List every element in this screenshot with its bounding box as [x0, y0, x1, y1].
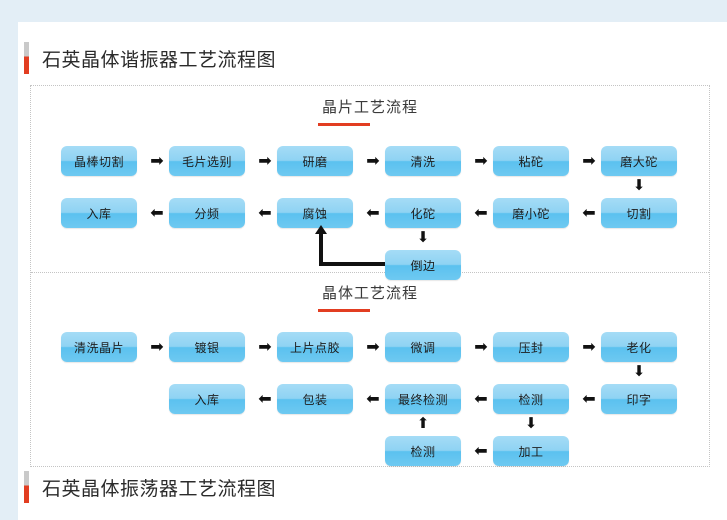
node-s2r1-c2[interactable]: 镀银: [169, 332, 245, 362]
section-2-heading-label: 晶体工艺流程: [31, 282, 709, 309]
arrow-left-s1r2-3: ⬅: [362, 206, 384, 222]
arrow-right-s1r1-3: ➡: [362, 154, 384, 170]
section-2-heading: 晶体工艺流程: [31, 282, 709, 309]
arrow-left-s1r2-2: ⬅: [254, 206, 276, 222]
arrow-left-s1r2-4: ⬅: [470, 206, 492, 222]
arrow-right-s2r1-4: ➡: [470, 340, 492, 356]
arrow-up-s2-col4: ⬆: [416, 416, 430, 431]
arrow-left-s2r2-1: ⬅: [254, 392, 276, 408]
node-s1r2-c1[interactable]: 入库: [61, 198, 137, 228]
title-accent-bar-bottom: [24, 471, 29, 503]
node-s2r3-c5[interactable]: 加工: [493, 436, 569, 466]
section-2-heading-rule-accent: [318, 309, 370, 312]
arrow-right-s2r1-1: ➡: [146, 340, 168, 356]
arrow-left-s1r2-1: ⬅: [146, 206, 168, 222]
node-s2r1-c5[interactable]: 压封: [493, 332, 569, 362]
node-s1r1-c2[interactable]: 毛片选别: [169, 146, 245, 176]
arrow-right-s2r1-5: ➡: [578, 340, 600, 356]
arrow-left-s1r2-5: ⬅: [578, 206, 600, 222]
arrow-down-s1-col6: ⬇: [632, 178, 646, 193]
arrow-right-s2r1-2: ➡: [254, 340, 276, 356]
arrow-down-s1-col4: ⬇: [416, 230, 430, 245]
arrow-left-s2r3-1: ⬅: [470, 444, 492, 460]
arrow-right-s1r1-1: ➡: [146, 154, 168, 170]
elbow-horizontal-segment: [319, 262, 385, 266]
section-1-heading-label: 晶片工艺流程: [31, 96, 709, 123]
arrow-right-s1r1-2: ➡: [254, 154, 276, 170]
node-s1r2-c5[interactable]: 磨小砣: [493, 198, 569, 228]
node-s1r1-c6[interactable]: 磨大砣: [601, 146, 677, 176]
panel-divider: [31, 272, 709, 273]
section-1-heading-rule-accent: [318, 123, 370, 126]
arrow-down-s2-col6: ⬇: [632, 364, 646, 379]
elbow-arrow-head: [315, 225, 327, 234]
arrow-right-s2r1-3: ➡: [362, 340, 384, 356]
node-s2r2-c6[interactable]: 印字: [601, 384, 677, 414]
node-s1r1-c1[interactable]: 晶棒切割: [61, 146, 137, 176]
node-s2r2-c2[interactable]: 入库: [169, 384, 245, 414]
node-s2r2-c5[interactable]: 检测: [493, 384, 569, 414]
node-s1r2-c4[interactable]: 化砣: [385, 198, 461, 228]
node-s2r2-c4[interactable]: 最终检测: [385, 384, 461, 414]
node-s2r3-c4[interactable]: 检测: [385, 436, 461, 466]
page-title-bottom: 石英晶体振荡器工艺流程图: [24, 470, 276, 504]
arrow-left-s2r2-4: ⬅: [578, 392, 600, 408]
node-s1r1-c3[interactable]: 研磨: [277, 146, 353, 176]
arrow-down-s2-col5: ⬇: [524, 416, 538, 431]
page-title-top: 石英晶体谐振器工艺流程图: [24, 41, 276, 75]
node-s1r2-c6[interactable]: 切割: [601, 198, 677, 228]
node-s1r1-c4[interactable]: 清洗: [385, 146, 461, 176]
elbow-vertical-segment: [319, 232, 323, 266]
node-s2r1-c6[interactable]: 老化: [601, 332, 677, 362]
node-s1r1-c5[interactable]: 粘砣: [493, 146, 569, 176]
node-s2r1-c3[interactable]: 上片点胶: [277, 332, 353, 362]
arrow-right-s1r1-4: ➡: [470, 154, 492, 170]
node-s1r3-c4[interactable]: 倒边: [385, 250, 461, 280]
section-1-heading: 晶片工艺流程: [31, 96, 709, 123]
arrow-right-s1r1-5: ➡: [578, 154, 600, 170]
page-title-top-label: 石英晶体谐振器工艺流程图: [42, 45, 276, 72]
page-title-bottom-label: 石英晶体振荡器工艺流程图: [42, 474, 276, 501]
flow-panel: 晶片工艺流程 晶棒切割 ➡ 毛片选别 ➡ 研磨 ➡ 清洗 ➡ 粘砣 ➡ 磨大砣 …: [30, 85, 710, 467]
elbow-connector-s1: [319, 232, 385, 266]
arrow-left-s2r2-3: ⬅: [470, 392, 492, 408]
node-s1r2-c3[interactable]: 腐蚀: [277, 198, 353, 228]
node-s2r1-c1[interactable]: 清洗晶片: [61, 332, 137, 362]
node-s2r2-c3[interactable]: 包装: [277, 384, 353, 414]
arrow-left-s2r2-2: ⬅: [362, 392, 384, 408]
node-s2r1-c4[interactable]: 微调: [385, 332, 461, 362]
title-accent-bar: [24, 42, 29, 74]
node-s1r2-c2[interactable]: 分频: [169, 198, 245, 228]
